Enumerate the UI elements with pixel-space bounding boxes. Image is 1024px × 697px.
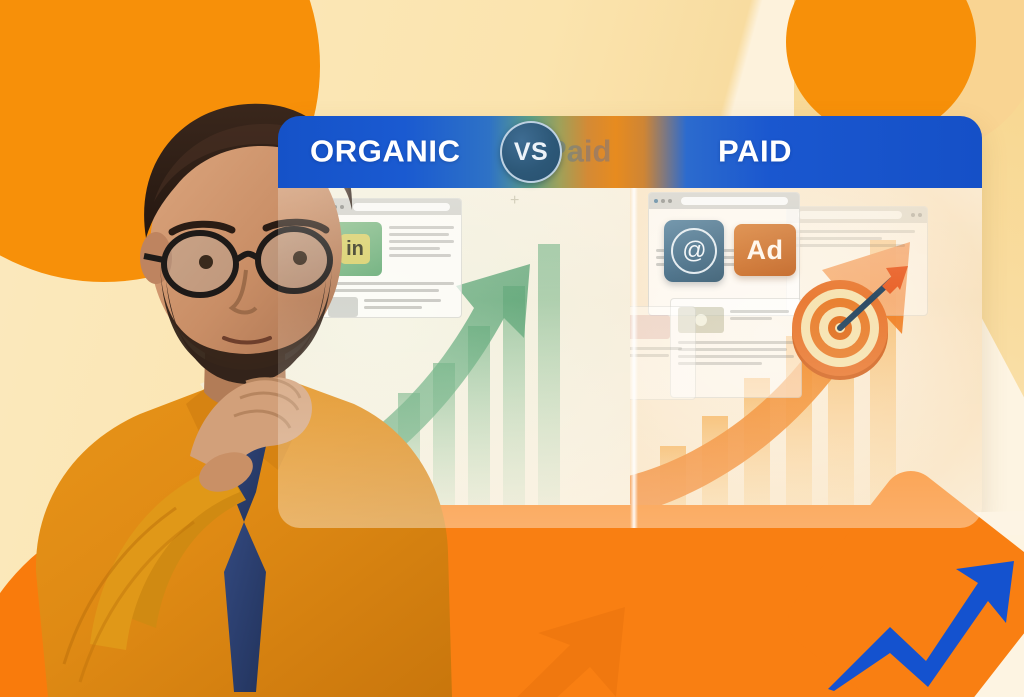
blue-zigzag-growth-arrow — [828, 531, 1018, 691]
browser-dot — [668, 199, 672, 203]
target-bullseye-with-arrow — [782, 264, 912, 394]
vs-badge-label: VS — [514, 138, 548, 167]
browser-dot — [918, 213, 922, 217]
browser-dot — [654, 199, 658, 203]
at-sign-glyph: @ — [671, 228, 717, 274]
browser-dot — [661, 199, 665, 203]
browser-url-bar — [681, 197, 788, 205]
vs-badge: VS — [500, 121, 562, 183]
hero-graphic: in — [0, 0, 1024, 697]
header-label-organic: ORGANIC — [310, 133, 461, 169]
panel-paid: @ Ad — [630, 178, 982, 528]
browser-dot — [911, 213, 915, 217]
browser-toolbar — [787, 207, 927, 223]
plus-marker: + — [510, 192, 519, 210]
comparison-header-bar: ORGANIC Paid VS PAID — [278, 116, 982, 188]
header-label-paid: PAID — [718, 133, 792, 169]
panel-divider — [630, 178, 638, 528]
at-sign-badge: @ — [664, 220, 724, 282]
browser-window-mock-paid-edge — [630, 306, 696, 400]
browser-url-bar — [798, 211, 902, 219]
browser-toolbar — [649, 193, 799, 209]
